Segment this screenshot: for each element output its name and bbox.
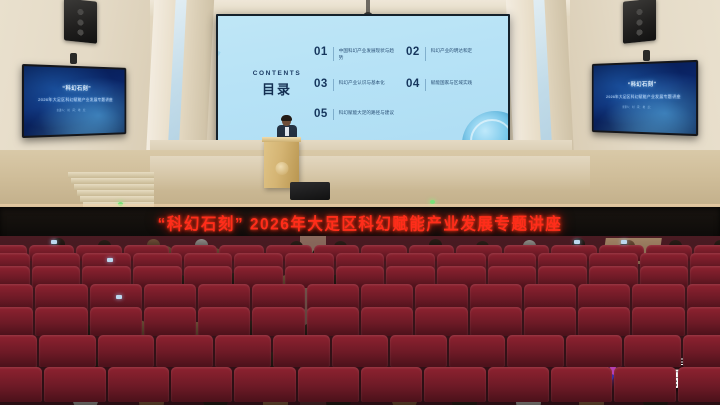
auditorium-seat — [632, 284, 684, 310]
toc-divider — [333, 109, 334, 121]
auditorium-seat — [307, 284, 359, 310]
presenter-hair — [281, 115, 292, 121]
auditorium-seat — [507, 335, 563, 367]
auditorium-seat — [470, 307, 522, 336]
auditorium-seat — [198, 307, 250, 336]
auditorium-seat — [624, 335, 680, 367]
auditorium-seat — [687, 284, 720, 310]
toc-number: 03 — [314, 79, 328, 91]
auditorium-seat — [687, 307, 720, 336]
audience-phone-screen — [574, 240, 580, 244]
main-projection-screen: CONTENTS 目录 01 中国科幻产业发展现状与趋势 02 科幻产业的明达和… — [216, 14, 510, 153]
toc-text: 科幻产业认识与基本化 — [339, 79, 385, 86]
toc-item-03: 03 科幻产业认识与基本化 — [314, 79, 398, 91]
seat-row — [0, 307, 720, 336]
led-banner-text: “科幻石刻” 2026年大足区科幻赋能产业发展专题讲座 — [158, 211, 563, 235]
toc-divider — [333, 47, 334, 61]
auditorium-seat — [551, 367, 612, 402]
auditorium-seat — [488, 367, 549, 402]
contents-en-text: CONTENTS — [240, 70, 314, 77]
slide-contents-label: CONTENTS 目录 — [240, 70, 314, 98]
auditorium-seat — [307, 307, 359, 336]
auditorium-seat — [0, 367, 42, 402]
auditorium-seat — [524, 307, 576, 336]
auditorium-seat — [35, 284, 87, 310]
auditorium-seat — [424, 367, 485, 402]
auditorium-seat — [470, 284, 522, 310]
toc-divider — [425, 47, 426, 61]
auditorium-seat — [524, 284, 576, 310]
audience-phone-screen — [107, 258, 113, 262]
auditorium-seat — [0, 335, 37, 367]
stage-floor-reflection — [150, 156, 590, 206]
auditorium-scene: CONTENTS 目录 01 中国科幻产业发展现状与趋势 02 科幻产业的明达和… — [0, 0, 720, 405]
auditorium-seat — [144, 284, 196, 310]
toc-item-04: 04 赋能国家与区域实践 — [406, 79, 490, 91]
auditorium-seat — [234, 367, 295, 402]
auditorium-seat — [98, 335, 154, 367]
auditorium-seat — [361, 367, 422, 402]
auditorium-seat — [39, 335, 95, 367]
podium — [264, 140, 299, 188]
auditorium-seat — [44, 367, 105, 402]
auditorium-seat — [171, 367, 232, 402]
auditorium-seat — [198, 284, 250, 310]
podium-top — [262, 137, 301, 142]
audience-phone-screen — [116, 295, 122, 299]
left-wall-fixture — [70, 53, 77, 64]
side-left-subtitle: 2026年大足区科幻赋能产业发展专题讲座 — [24, 97, 125, 103]
auditorium-seat — [273, 335, 329, 367]
audience-seating — [0, 236, 720, 405]
side-right-title: “科幻石刻” — [594, 79, 696, 89]
audience-phone-screen — [621, 240, 627, 244]
toc-item-01: 01 中国科幻产业发展现状与趋势 — [314, 47, 398, 61]
contents-cn-text: 目录 — [240, 79, 314, 98]
side-left-title: “科幻石刻” — [24, 83, 125, 92]
wall-speaker-right — [623, 0, 656, 44]
seat-row — [0, 335, 720, 367]
toc-text: 科幻产业的明达和定 — [431, 47, 472, 54]
auditorium-seat — [578, 284, 630, 310]
auditorium-seat — [0, 284, 33, 310]
toc-divider — [333, 79, 334, 91]
toc-item-02: 02 科幻产业的明达和定 — [406, 47, 490, 61]
side-right-meta: 主讲人： 时 间： 地 点： — [622, 106, 652, 111]
side-monitor-left: “科幻石刻” 2026年大足区科幻赋能产业发展专题讲座 主讲人： 时 间： 地 … — [22, 64, 126, 138]
auditorium-seat — [614, 367, 675, 402]
auditorium-seat — [108, 367, 169, 402]
auditorium-seat — [332, 335, 388, 367]
seat-row — [0, 284, 720, 310]
presenter-shirt — [285, 127, 289, 136]
auditorium-seat — [361, 307, 413, 336]
toc-number: 01 — [314, 47, 328, 59]
podium-emblem-icon — [275, 162, 288, 175]
auditorium-seat — [415, 307, 467, 336]
toc-number: 05 — [314, 109, 328, 121]
auditorium-seat — [144, 307, 196, 336]
toc-item-05: 05 科幻赋能大足的路径与建议 — [314, 109, 398, 121]
side-left-meta: 主讲人： 时 间： 地 点： — [57, 109, 88, 114]
side-monitor-right-screen: “科幻石刻” 2026年大足区科幻赋能产业发展专题讲座 主讲人： 时 间： 地 … — [594, 62, 696, 134]
auditorium-seat — [566, 335, 622, 367]
led-banner: “科幻石刻” 2026年大足区科幻赋能产业发展专题讲座 — [0, 208, 720, 238]
auditorium-seat — [449, 335, 505, 367]
auditorium-seat — [90, 307, 142, 336]
auditorium-seat — [361, 284, 413, 310]
auditorium-seat — [632, 307, 684, 336]
auditorium-seat — [35, 307, 87, 336]
side-monitor-left-screen: “科幻石刻” 2026年大足区科幻赋能产业发展专题讲座 主讲人： 时 间： 地 … — [24, 66, 125, 136]
toc-number: 02 — [406, 47, 420, 59]
seat-row — [0, 367, 720, 402]
auditorium-seat — [156, 335, 212, 367]
toc-text: 赋能国家与区域实践 — [431, 79, 472, 86]
stage-floor-monitor — [290, 182, 330, 200]
auditorium-seat — [578, 307, 630, 336]
auditorium-seat — [252, 307, 304, 336]
auditorium-seat — [215, 335, 271, 367]
auditorium-seat — [0, 307, 33, 336]
toc-divider — [425, 79, 426, 91]
side-right-subtitle: 2026年大足区科幻赋能产业发展专题讲座 — [594, 94, 696, 100]
right-wall-fixture — [643, 50, 650, 61]
slide-toc-grid: 01 中国科幻产业发展现状与趋势 02 科幻产业的明达和定 03 科幻产业认识与… — [314, 47, 508, 120]
auditorium-seat — [390, 335, 446, 367]
auditorium-seat — [683, 335, 720, 367]
audience-phone-screen — [51, 240, 57, 244]
toc-number: 04 — [406, 79, 420, 91]
toc-text: 科幻赋能大足的路径与建议 — [339, 109, 394, 116]
presentation-slide: CONTENTS 目录 01 中国科幻产业发展现状与趋势 02 科幻产业的明达和… — [218, 16, 508, 151]
auditorium-seat — [678, 367, 720, 402]
auditorium-seat — [415, 284, 467, 310]
auditorium-seat — [298, 367, 359, 402]
toc-text: 中国科幻产业发展现状与趋势 — [339, 47, 395, 61]
side-monitor-right: “科幻石刻” 2026年大足区科幻赋能产业发展专题讲座 主讲人： 时 间： 地 … — [592, 60, 698, 136]
wall-speaker-left — [64, 0, 97, 44]
auditorium-seat — [252, 284, 304, 310]
